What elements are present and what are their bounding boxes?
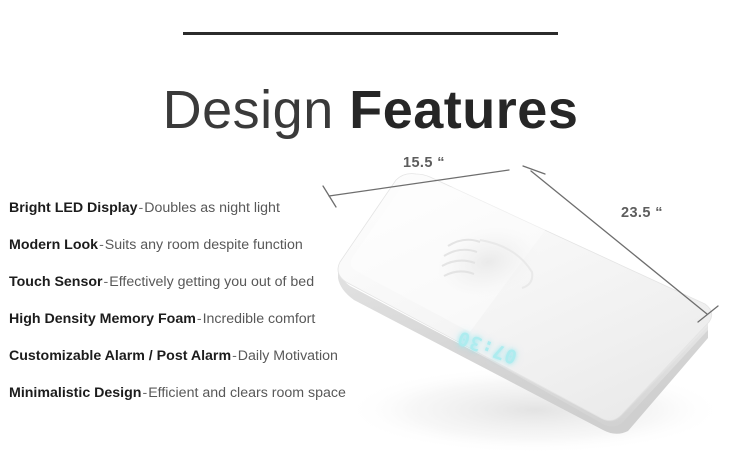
page-title-light: Design bbox=[163, 80, 334, 140]
feature-dash: - bbox=[196, 311, 203, 327]
feature-description: Efficient and clears room space bbox=[148, 385, 346, 401]
feature-dash: - bbox=[231, 348, 238, 364]
title-divider bbox=[183, 32, 558, 35]
page-title-bold: Features bbox=[349, 80, 578, 140]
dimension-label-width: 15.5 “ bbox=[403, 155, 445, 171]
feature-label: Minimalistic Design bbox=[9, 385, 141, 401]
product-figure: 15.5 “ 23.5 “ 07:30 bbox=[320, 150, 741, 451]
feature-label: High Density Memory Foam bbox=[9, 311, 196, 327]
product-illustration bbox=[320, 150, 741, 451]
feature-description: Incredible comfort bbox=[203, 311, 316, 327]
feature-description: Effectively getting you out of bed bbox=[109, 274, 314, 290]
feature-label: Customizable Alarm / Post Alarm bbox=[9, 348, 231, 364]
design-features-graphic: Design Features Bright LED Display-Doubl… bbox=[0, 0, 741, 451]
page-title-space bbox=[334, 80, 350, 140]
feature-label: Bright LED Display bbox=[9, 200, 138, 216]
dimension-label-depth: 23.5 “ bbox=[621, 205, 663, 221]
feature-description: Doubles as night light bbox=[144, 200, 280, 216]
feature-description: Suits any room despite function bbox=[105, 237, 303, 253]
page-title: Design Features bbox=[0, 80, 741, 140]
feature-dash: - bbox=[98, 237, 105, 253]
feature-label: Modern Look bbox=[9, 237, 98, 253]
feature-label: Touch Sensor bbox=[9, 274, 103, 290]
